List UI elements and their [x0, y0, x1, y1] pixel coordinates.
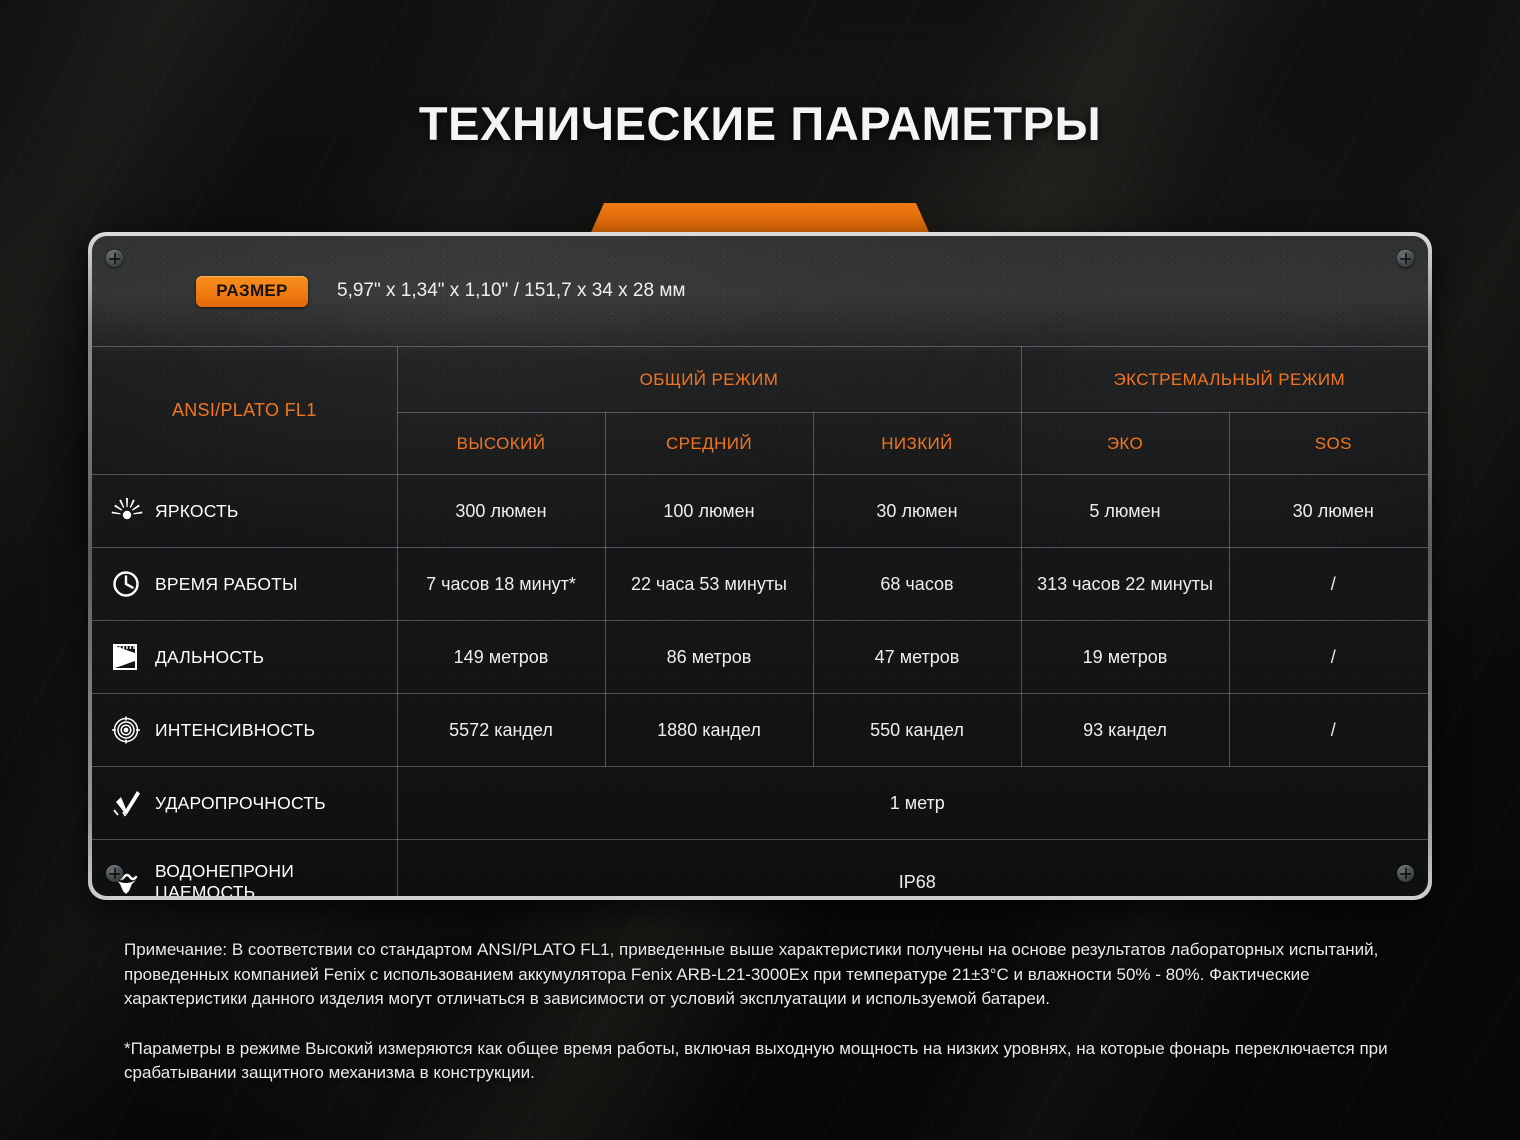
table-row: ЯРКОСТЬ 300 люмен 100 люмен 30 люмен 5 л… [92, 475, 1428, 548]
cell-distance-sos: / [1229, 621, 1428, 694]
cell-intensity-eco: 93 кандел [1021, 694, 1229, 767]
header-group-general: ОБЩИЙ РЕЖИМ [397, 347, 1021, 413]
header-group-extreme: ЭКСТРЕМАЛЬНЫЙ РЕЖИМ [1021, 347, 1428, 413]
panel-inner: РАЗМЕР 5,97" x 1,34" x 1,10" / 151,7 x 3… [92, 236, 1428, 896]
size-value: 5,97" x 1,34" x 1,10" / 151,7 x 34 x 28 … [337, 279, 685, 303]
cell-runtime-eco: 313 часов 22 минуты [1021, 548, 1229, 621]
row-label-distance: ДАЛЬНОСТЬ [92, 621, 397, 694]
header-mode-high: ВЫСОКИЙ [397, 413, 605, 475]
row-label-text: ЯРКОСТЬ [155, 501, 239, 522]
ansi-plato-label: ANSI/PLATO FL1 [92, 347, 397, 475]
row-label-text: ИНТЕНСИВНОСТЬ [155, 720, 315, 741]
table-header-groups: ANSI/PLATO FL1 ОБЩИЙ РЕЖИМ ЭКСТРЕМАЛЬНЫЙ… [92, 347, 1428, 413]
cell-impact-value: 1 метр [397, 767, 1428, 840]
note-high-mode-footnote: *Параметры в режиме Высокий измеряются к… [124, 1037, 1414, 1086]
table-row: УДАРОПРОЧНОСТЬ 1 метр [92, 767, 1428, 840]
table-row: ВРЕМЯ РАБОТЫ 7 часов 18 минут* 22 часа 5… [92, 548, 1428, 621]
screw-icon [106, 250, 123, 267]
cell-intensity-mid: 1880 кандел [605, 694, 813, 767]
runtime-clock-icon [110, 569, 144, 599]
header-mode-eco: ЭКО [1021, 413, 1229, 475]
cell-brightness-sos: 30 люмен [1229, 475, 1428, 548]
row-label-text: ДАЛЬНОСТЬ [155, 647, 264, 668]
row-label-text: УДАРОПРОЧНОСТЬ [155, 793, 326, 814]
cell-brightness-mid: 100 люмен [605, 475, 813, 548]
cell-intensity-low: 550 кандел [813, 694, 1021, 767]
row-label-waterproof: ВОДОНЕПРОНИ ЦАЕМОСТЬ [92, 840, 397, 897]
cell-brightness-eco: 5 люмен [1021, 475, 1229, 548]
cell-intensity-sos: / [1229, 694, 1428, 767]
row-label-text: ВОДОНЕПРОНИ ЦАЕМОСТЬ [155, 861, 294, 896]
row-label-brightness: ЯРКОСТЬ [92, 475, 397, 548]
size-label-pill: РАЗМЕР [196, 276, 308, 307]
cell-brightness-high: 300 люмен [397, 475, 605, 548]
header-mode-mid: СРЕДНИЙ [605, 413, 813, 475]
screw-icon [1397, 865, 1414, 882]
header-mode-sos: SOS [1229, 413, 1428, 475]
header-mode-low: НИЗКИЙ [813, 413, 1021, 475]
page-title: ТЕХНИЧЕСКИЕ ПАРАМЕТРЫ [0, 96, 1520, 151]
table-row: ИНТЕНСИВНОСТЬ 5572 кандел 1880 кандел 55… [92, 694, 1428, 767]
specifications-table: ANSI/PLATO FL1 ОБЩИЙ РЕЖИМ ЭКСТРЕМАЛЬНЫЙ… [92, 346, 1428, 896]
notes-section: Примечание: В соответствии со стандартом… [124, 938, 1414, 1086]
intensity-target-icon [110, 715, 144, 745]
table-row: ВОДОНЕПРОНИ ЦАЕМОСТЬ IP68 [92, 840, 1428, 897]
cell-intensity-high: 5572 кандел [397, 694, 605, 767]
impact-resistance-icon [110, 788, 144, 818]
cell-runtime-sos: / [1229, 548, 1428, 621]
beam-distance-icon [110, 642, 144, 672]
row-label-impact: УДАРОПРОЧНОСТЬ [92, 767, 397, 840]
cell-distance-mid: 86 метров [605, 621, 813, 694]
brightness-sun-icon [110, 496, 144, 526]
screw-icon [1397, 250, 1414, 267]
note-ansi-disclaimer: Примечание: В соответствии со стандартом… [124, 938, 1414, 1012]
cell-distance-low: 47 метров [813, 621, 1021, 694]
specifications-panel: РАЗМЕР 5,97" x 1,34" x 1,10" / 151,7 x 3… [88, 232, 1432, 900]
cell-runtime-high: 7 часов 18 минут* [397, 548, 605, 621]
meta-strip: РАЗМЕР 5,97" x 1,34" x 1,10" / 151,7 x 3… [92, 236, 1428, 346]
row-label-runtime: ВРЕМЯ РАБОТЫ [92, 548, 397, 621]
table-row: ДАЛЬНОСТЬ 149 метров 86 метров 47 метров… [92, 621, 1428, 694]
cell-runtime-low: 68 часов [813, 548, 1021, 621]
row-label-intensity: ИНТЕНСИВНОСТЬ [92, 694, 397, 767]
row-label-text: ВРЕМЯ РАБОТЫ [155, 574, 298, 595]
cell-waterproof-value: IP68 [397, 840, 1428, 897]
cell-runtime-mid: 22 часа 53 минуты [605, 548, 813, 621]
cell-distance-high: 149 метров [397, 621, 605, 694]
cell-brightness-low: 30 люмен [813, 475, 1021, 548]
screw-icon [106, 865, 123, 882]
cell-distance-eco: 19 метров [1021, 621, 1229, 694]
